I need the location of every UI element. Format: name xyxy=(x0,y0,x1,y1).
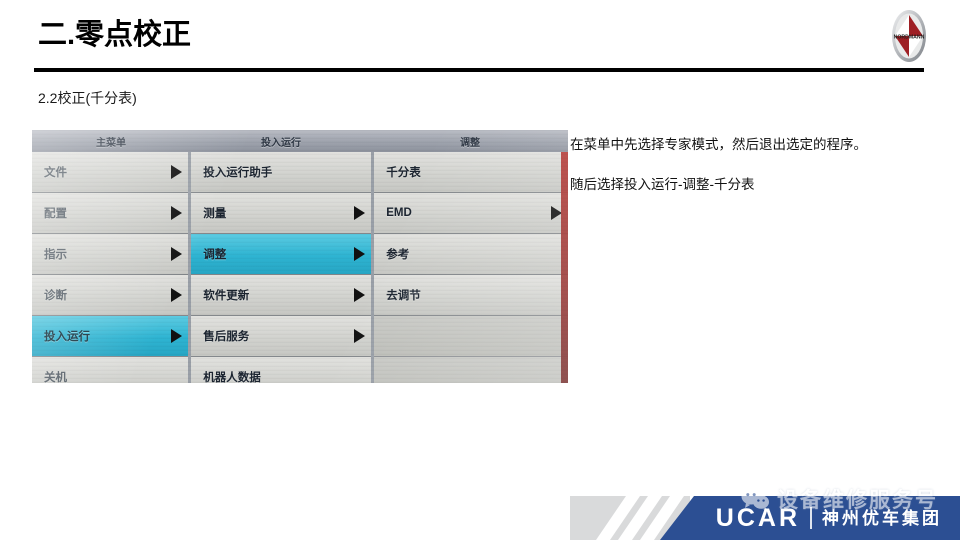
menu-item[interactable]: 诊断 xyxy=(32,275,188,316)
title-divider xyxy=(34,68,924,72)
menu-item[interactable]: 千分表 xyxy=(374,152,568,193)
menu-item[interactable]: 配置 xyxy=(32,193,188,234)
chevron-right-icon xyxy=(171,288,182,302)
chevron-right-icon xyxy=(354,288,365,302)
chevron-right-icon xyxy=(171,165,182,179)
ucar-wordmark: UCAR xyxy=(716,506,800,531)
menu-item-label: 调整 xyxy=(203,246,350,262)
menu-item[interactable]: 去调节 xyxy=(374,275,568,316)
page-title: 二.零点校正 xyxy=(38,20,191,52)
menu-item-label: 测量 xyxy=(203,205,350,221)
menu-item[interactable]: 机器人数据 xyxy=(191,357,371,383)
menu-item[interactable]: 售后服务 xyxy=(191,316,371,357)
menu-item[interactable]: 参考 xyxy=(374,234,568,275)
column-header-main-menu: 主菜单 xyxy=(32,130,190,152)
menu-item[interactable]: 关机 xyxy=(32,357,188,383)
menu-item-label: 参考 xyxy=(386,246,547,262)
menu-item-label: 投入运行助手 xyxy=(203,164,350,180)
menu-item-label: 机器人数据 xyxy=(203,369,350,383)
menu-item-label: 去调节 xyxy=(386,287,547,303)
menu-item-label: 诊断 xyxy=(44,287,167,303)
menu-item-label: 配置 xyxy=(44,205,167,221)
menu-item-label: 千分表 xyxy=(386,164,547,180)
column-header-commission: 投入运行 xyxy=(190,130,372,152)
footer-brand-content: UCAR 神州优车集团 xyxy=(660,496,960,540)
menu-item-label: 文件 xyxy=(44,164,167,180)
screen-edge-red-strip xyxy=(561,152,568,383)
menu-item[interactable]: EMD xyxy=(374,193,568,234)
menu-item-empty xyxy=(374,357,568,383)
menu-item[interactable]: 投入运行助手 xyxy=(191,152,371,193)
menu-item-label: 售后服务 xyxy=(203,328,350,344)
menu-column-commissioning: 投入运行助手 测量 调整 软件更新 售后服务 xyxy=(191,152,374,383)
ucar-wordmark-cn: 神州优车集团 xyxy=(822,510,942,527)
menu-item-selected[interactable]: 投入运行 xyxy=(32,316,188,357)
slide: 二.零点校正 2.2校正(千分表) NORDMANN 主菜单 投入运行 调整 xyxy=(0,0,960,540)
instruction-line-2: 随后选择投入运行-调整-千分表 xyxy=(570,176,755,195)
instruction-line-1: 在菜单中先选择专家模式，然后退出选定的程序。 xyxy=(570,136,867,155)
chevron-right-icon xyxy=(171,329,182,343)
section-subtitle: 2.2校正(千分表) xyxy=(38,88,137,108)
menu-item-label: EMD xyxy=(386,207,547,219)
column-header-adjustment: 调整 xyxy=(372,130,568,152)
menu-item[interactable]: 文件 xyxy=(32,152,188,193)
menu-item[interactable]: 指示 xyxy=(32,234,188,275)
menu-item-label: 软件更新 xyxy=(203,287,350,303)
logo-wordmark: NORDMANN xyxy=(894,35,925,41)
brand-divider xyxy=(810,507,812,529)
menu-item-selected[interactable]: 调整 xyxy=(191,234,371,275)
hmi-menu-photo: 主菜单 投入运行 调整 文件 配置 指示 xyxy=(32,130,568,383)
menu-item-label: 指示 xyxy=(44,246,167,262)
hmi-columns: 文件 配置 指示 诊断 投入运行 xyxy=(32,152,568,383)
nordmann-diamond-logo: NORDMANN xyxy=(882,8,936,64)
footer: UCAR 神州优车集团 设备维修服务号 xyxy=(0,482,960,540)
chevron-right-icon xyxy=(171,206,182,220)
menu-item-label: 关机 xyxy=(44,369,167,383)
chevron-right-icon xyxy=(171,247,182,261)
chevron-right-icon xyxy=(354,247,365,261)
menu-item[interactable]: 测量 xyxy=(191,193,371,234)
chevron-right-icon xyxy=(354,206,365,220)
menu-item-empty xyxy=(374,316,568,357)
menu-column-adjustment: 千分表 EMD 参考 去调节 xyxy=(374,152,568,383)
chevron-right-icon xyxy=(354,329,365,343)
menu-item-label: 投入运行 xyxy=(44,328,167,344)
hmi-header-bar: 主菜单 投入运行 调整 xyxy=(32,130,568,152)
menu-column-main: 文件 配置 指示 诊断 投入运行 xyxy=(32,152,191,383)
menu-item[interactable]: 软件更新 xyxy=(191,275,371,316)
